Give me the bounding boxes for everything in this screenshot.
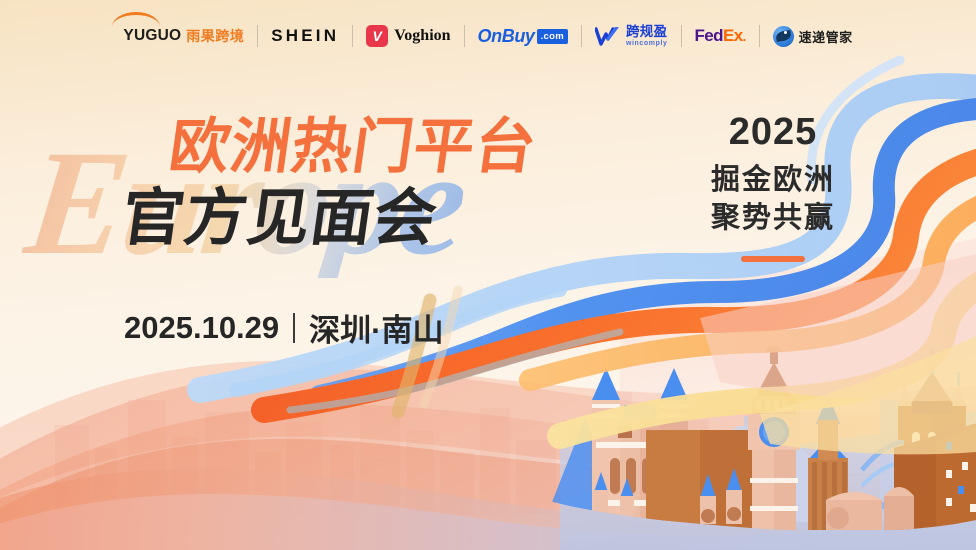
arc-icon	[112, 12, 160, 27]
event-meta: 2025.10.29 深圳·南山	[124, 305, 443, 350]
right-slogan-panel: 2025 掘金欧洲 聚势共赢	[711, 113, 835, 262]
logo-yuguo[interactable]: YUGUO 雨果跨境	[110, 19, 257, 53]
headline-line-2: 官方见面会	[118, 187, 442, 249]
logo-divider	[681, 25, 682, 47]
w-mark-icon	[595, 27, 621, 46]
logo-onbuy-suffix: .com	[537, 29, 568, 44]
promo-banner: YUGUO 雨果跨境 SHEIN V Voghion OnBuy .com	[0, 0, 976, 550]
logo-shein[interactable]: SHEIN	[258, 19, 352, 53]
logo-fedex[interactable]: FedEx.	[682, 19, 759, 53]
slogan-line-2: 聚势共赢	[711, 199, 835, 237]
logo-wincomply-english: wincomply	[626, 40, 668, 47]
event-location: 深圳·南山	[309, 305, 443, 350]
logo-voghion-text: Voghion	[394, 27, 450, 45]
logo-fedex-period: .	[743, 29, 746, 44]
bird-circle-icon	[773, 26, 794, 47]
background-artwork	[0, 0, 976, 550]
logo-onbuy[interactable]: OnBuy .com	[465, 19, 581, 53]
logo-voghion[interactable]: V Voghion	[353, 19, 463, 53]
logo-wincomply-chinese: 跨规盈	[626, 25, 668, 39]
logo-sudiguanjia-text: 速递管家	[799, 27, 853, 46]
logo-yuguo-chinese: 雨果跨境	[186, 26, 244, 46]
slogan-underline	[741, 256, 805, 262]
partner-logo-bar: YUGUO 雨果跨境 SHEIN V Voghion OnBuy .com	[0, 0, 976, 72]
event-date: 2025.10.29	[124, 310, 279, 346]
meta-separator	[293, 313, 295, 343]
slogan-line-1: 掘金欧洲	[711, 161, 835, 199]
logo-divider	[759, 25, 760, 47]
logo-fedex-part2: Ex	[723, 26, 743, 46]
logo-wincomply[interactable]: 跨规盈 wincomply	[582, 19, 681, 53]
voghion-v-icon: V	[366, 25, 388, 47]
slogan-year: 2025	[729, 113, 818, 153]
logo-sudiguanjia[interactable]: 速递管家	[760, 19, 866, 53]
logo-divider	[257, 25, 258, 47]
logo-onbuy-text: OnBuy	[478, 26, 535, 47]
logo-divider	[464, 25, 465, 47]
logo-yuguo-english: YUGUO	[123, 27, 181, 45]
logo-shein-text: SHEIN	[271, 26, 339, 46]
logo-fedex-part1: Fed	[695, 26, 723, 46]
logo-divider	[581, 25, 582, 47]
logo-divider	[352, 25, 353, 47]
headline-line-1: 欧洲热门平台	[166, 117, 540, 177]
